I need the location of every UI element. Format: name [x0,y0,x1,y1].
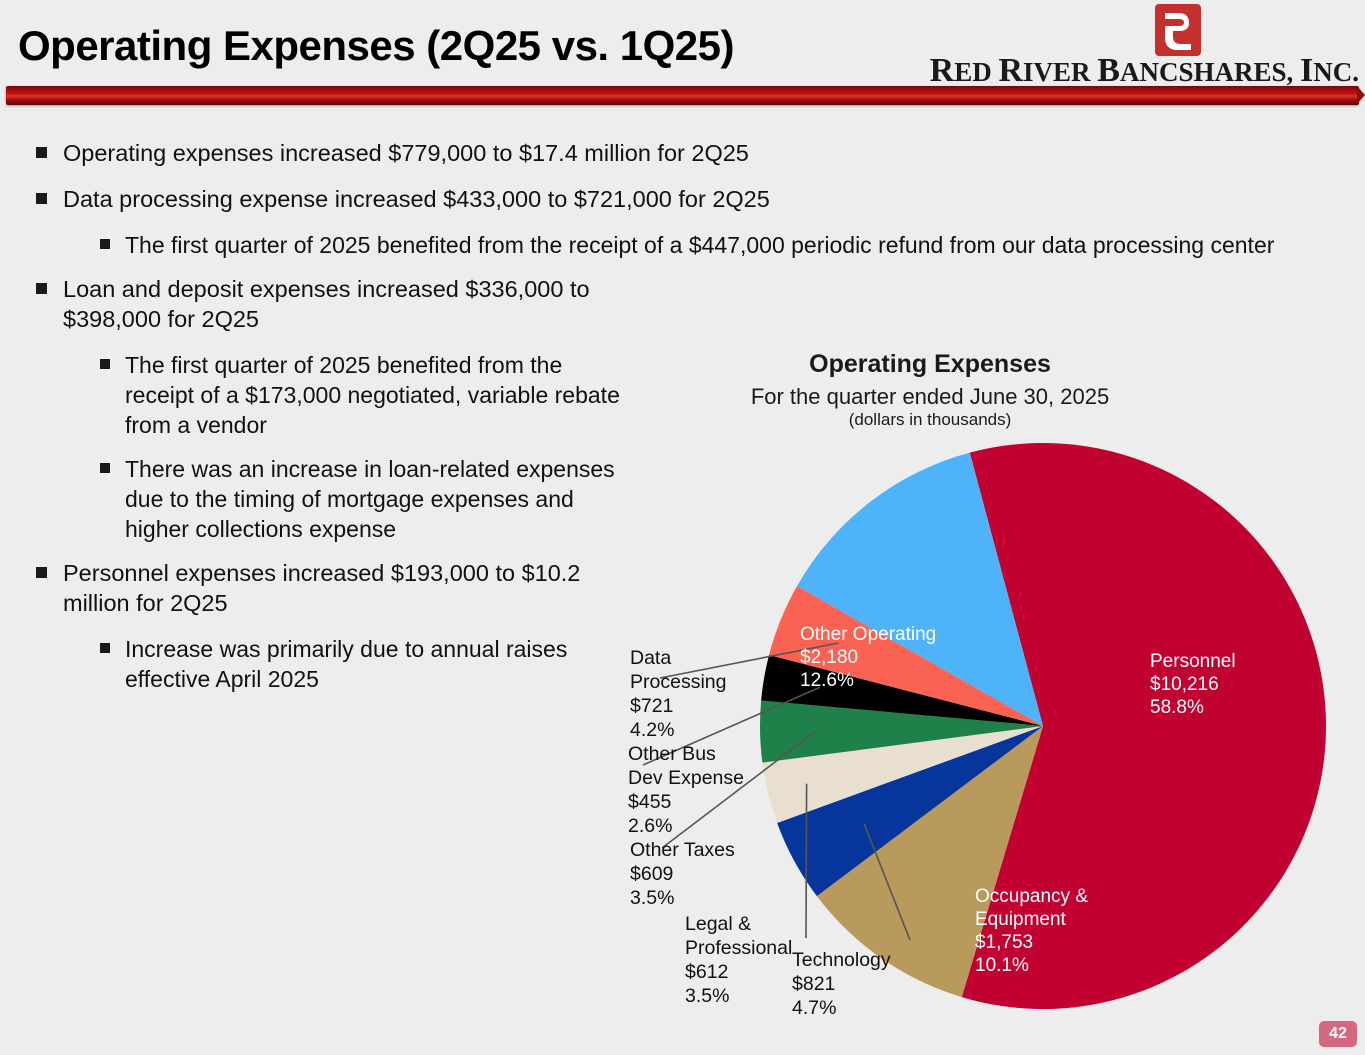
bullet-text: Increase was primarily due to annual rai… [125,634,625,694]
page-number-badge: 42 [1319,1021,1357,1047]
bullet-item: Loan and deposit expenses increased $336… [36,274,1336,334]
slide: Operating Expenses (2Q25 vs. 1Q25) RED R… [0,0,1365,1055]
brand-name-nc: NC. [1313,57,1359,87]
brand-name-b: B [1097,52,1120,89]
bullet-marker-icon [100,359,110,369]
bullet-text: Loan and deposit expenses increased $336… [63,274,643,334]
brand-name: RED RIVER BANCSHARES, INC. [930,52,1359,90]
header-accent-bar [6,86,1359,105]
pie-slice-label: Other Taxes $609 3.5% [630,838,735,910]
pie-slice-label: Other Operating $2,180 12.6% [800,623,936,692]
page-title: Operating Expenses (2Q25 vs. 1Q25) [18,22,734,70]
pie-chart: Personnel $10,216 58.8%Occupancy & Equip… [610,340,1365,1040]
bullet-text: There was an increase in loan-related ex… [125,454,625,544]
bullet-text: Operating expenses increased $779,000 to… [63,138,749,168]
brand-logo: RED RIVER BANCSHARES, INC. [1021,2,1361,90]
bullet-marker-icon [100,239,110,249]
brand-name-i: I [1300,52,1313,89]
pie-slice-label: Other Bus Dev Expense $455 2.6% [628,742,744,838]
pie-slice-label: Personnel $10,216 58.8% [1150,650,1236,719]
bullet-marker-icon [36,567,47,578]
bullet-text: The first quarter of 2025 benefited from… [125,230,1274,260]
bullet-marker-icon [36,147,47,158]
bullet-marker-icon [36,283,47,294]
bullet-item: The first quarter of 2025 benefited from… [100,230,1336,260]
bullet-marker-icon [36,193,47,204]
bullet-text: Personnel expenses increased $193,000 to… [63,558,643,618]
bullet-text: Data processing expense increased $433,0… [63,184,770,214]
bullet-item: Data processing expense increased $433,0… [36,184,1336,214]
pie-slice-label: Technology $821 4.7% [792,948,891,1020]
bullet-marker-icon [100,463,110,473]
brand-name-iver: IVER [1023,57,1097,87]
brand-name-ancshares: ANCSHARES, [1120,57,1300,87]
bullet-text: The first quarter of 2025 benefited from… [125,350,625,440]
bullet-item: Operating expenses increased $779,000 to… [36,138,1336,168]
brand-name-r1: R [930,52,955,89]
operating-expenses-chart: Operating Expenses For the quarter ended… [610,340,1365,1040]
bullet-marker-icon [100,643,110,653]
brand-name-ed: ED [954,57,998,87]
pie-slice-label: Data Processing $721 4.2% [630,646,726,742]
pie-slice-label: Occupancy & Equipment $1,753 10.1% [975,885,1088,977]
pie-leader-line [806,784,807,938]
pie-slice-label: Legal & Professional $612 3.5% [685,912,792,1008]
brand-name-r2: R [998,52,1023,89]
red-river-square-logo-icon [1155,4,1201,56]
